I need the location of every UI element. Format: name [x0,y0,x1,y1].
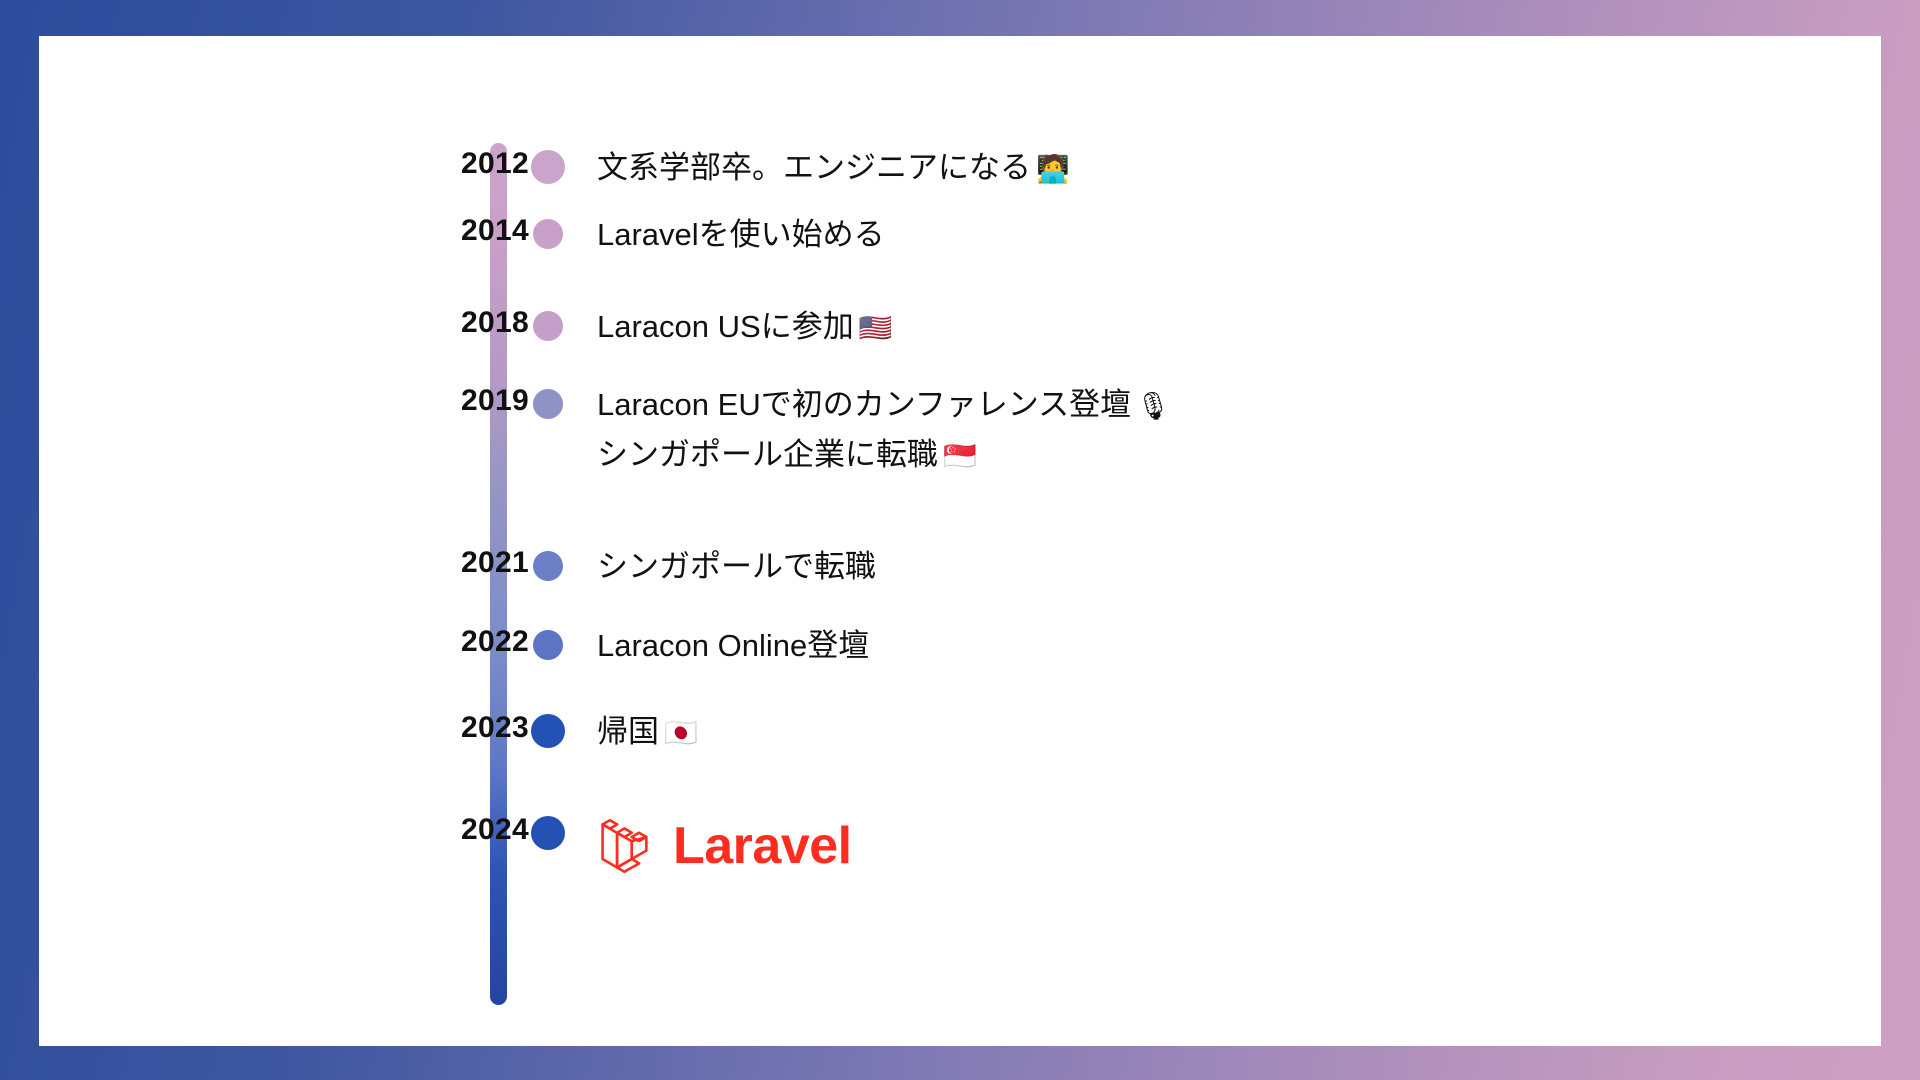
timeline-row: 2021 シンガポールで転職 [409,542,1809,592]
timeline-dot-icon [531,816,565,850]
timeline-label: Laracon USに参加🇺🇸 [567,302,1809,352]
timeline-label: Laracon Online登壇 [567,621,1809,671]
timeline-row: 2018 Laracon USに参加🇺🇸 [409,302,1809,352]
flag-singapore-emoji: 🇸🇬 [938,441,977,472]
timeline-dot-icon [533,630,563,660]
timeline-text: Laracon Online登壇 [597,628,869,663]
timeline-year: 2019 [409,380,529,416]
timeline-dot-icon [531,150,565,184]
timeline-dot-cell [529,809,567,853]
timeline-text: 帰国 [597,714,659,749]
laravel-wordmark: Laravel [673,820,852,872]
timeline-label: Laracon EUで初のカンファレンス登壇🎙 シンガポール企業に転職🇸🇬 [567,380,1809,480]
flag-japan-emoji: 🇯🇵 [659,718,698,749]
timeline-text: Laracon EUで初のカンファレンス登壇 [597,387,1131,422]
timeline-year: 2022 [409,621,529,657]
timeline-year: 2024 [409,809,529,845]
timeline-dot-cell [529,621,567,665]
timeline-row: 2014 Laravelを使い始める [409,210,1809,260]
timeline-text: Laravelを使い始める [597,217,885,252]
timeline-year: 2018 [409,302,529,338]
timeline-year: 2012 [409,143,529,179]
timeline-text: シンガポール企業に転職 [597,437,938,472]
timeline-year: 2023 [409,707,529,743]
studio-microphone-emoji: 🎙 [1131,391,1170,422]
timeline-year: 2021 [409,542,529,578]
laravel-mark-icon [597,811,659,881]
flag-united-states-emoji: 🇺🇸 [854,313,893,344]
timeline-dot-icon [533,389,563,419]
timeline-row: 2024 [409,809,1809,881]
timeline-dot-cell [529,143,567,187]
laravel-logo: Laravel [597,809,1809,881]
timeline-row: 2022 Laracon Online登壇 [409,621,1809,671]
timeline-dot-icon [533,219,563,249]
timeline-label: Laravelを使い始める [567,210,1809,260]
timeline-dot-cell [529,210,567,254]
timeline: 2012 文系学部卒。エンジニアになる🧑‍💻 2014 Laravelを使い始め… [409,103,1809,1043]
timeline-label: Laravel [567,809,1809,881]
timeline-year: 2014 [409,210,529,246]
timeline-label: シンガポールで転職 [567,542,1809,592]
timeline-dot-cell [529,542,567,586]
timeline-row: 2023 帰国🇯🇵 [409,707,1809,757]
timeline-dot-icon [533,311,563,341]
timeline-dot-icon [531,714,565,748]
timeline-label: 帰国🇯🇵 [567,707,1809,757]
timeline-row: 2012 文系学部卒。エンジニアになる🧑‍💻 [409,143,1809,193]
technologist-emoji: 🧑‍💻 [1031,154,1070,185]
timeline-row: 2019 Laracon EUで初のカンファレンス登壇🎙 シンガポール企業に転職… [409,380,1809,480]
timeline-text: シンガポールで転職 [597,549,876,584]
timeline-text: Laracon USに参加 [597,309,854,344]
slide-card: 2012 文系学部卒。エンジニアになる🧑‍💻 2014 Laravelを使い始め… [39,36,1881,1046]
timeline-text: 文系学部卒。エンジニアになる [597,150,1031,185]
timeline-dot-cell [529,302,567,346]
timeline-dot-icon [533,551,563,581]
timeline-dot-cell [529,707,567,751]
timeline-dot-cell [529,380,567,424]
timeline-label: 文系学部卒。エンジニアになる🧑‍💻 [567,143,1809,193]
